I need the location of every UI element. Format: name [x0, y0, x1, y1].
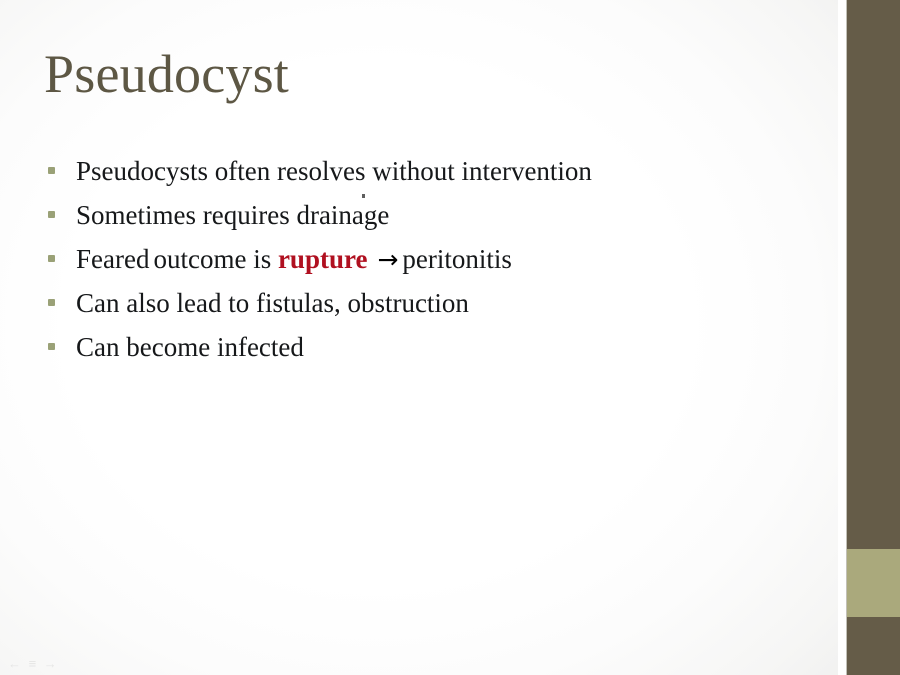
- list-item: Sometimes requires drainage: [48, 202, 808, 246]
- faint-watermark: ← ≡ →: [8, 656, 59, 671]
- presentation-slide: Pseudocyst Pseudocysts often resolves wi…: [0, 0, 900, 675]
- list-item-label: Can become infected: [76, 334, 808, 361]
- square-bullet-icon: [48, 167, 55, 174]
- sidebar-band-top: [847, 0, 900, 549]
- capture-speck-artifact: [362, 194, 365, 198]
- sidebar-band-accent: [847, 549, 900, 617]
- list-item-label: Pseudocysts often resolves without inter…: [76, 158, 808, 185]
- square-bullet-icon: [48, 299, 55, 306]
- slide-bullet-list: Pseudocysts often resolves without inter…: [48, 158, 808, 378]
- emphasis-rupture: rupture: [278, 244, 368, 274]
- list-item: Can become infected: [48, 334, 808, 378]
- sidebar-gutter: [838, 0, 846, 675]
- square-bullet-icon: [48, 343, 55, 350]
- slide-decorative-sidebar: [847, 0, 900, 675]
- list-item-text-tail: peritonitis: [402, 244, 512, 274]
- list-item: Can also lead to fistulas, obstruction: [48, 290, 808, 334]
- list-item-text-lead: Feared: [76, 244, 149, 274]
- list-item-label: Sometimes requires drainage: [76, 202, 808, 229]
- list-item: Pseudocysts often resolves without inter…: [48, 158, 808, 202]
- sidebar-band-bottom: [847, 617, 900, 675]
- right-arrow-icon: →: [367, 245, 402, 274]
- list-item-label: Fearedoutcome is rupture→peritonitis: [76, 246, 808, 273]
- list-item-text-mid: outcome is: [153, 244, 277, 274]
- list-item-label: Can also lead to fistulas, obstruction: [76, 290, 808, 317]
- list-item: Fearedoutcome is rupture→peritonitis: [48, 246, 808, 290]
- slide-title: Pseudocyst: [44, 44, 289, 104]
- square-bullet-icon: [48, 211, 55, 218]
- square-bullet-icon: [48, 255, 55, 262]
